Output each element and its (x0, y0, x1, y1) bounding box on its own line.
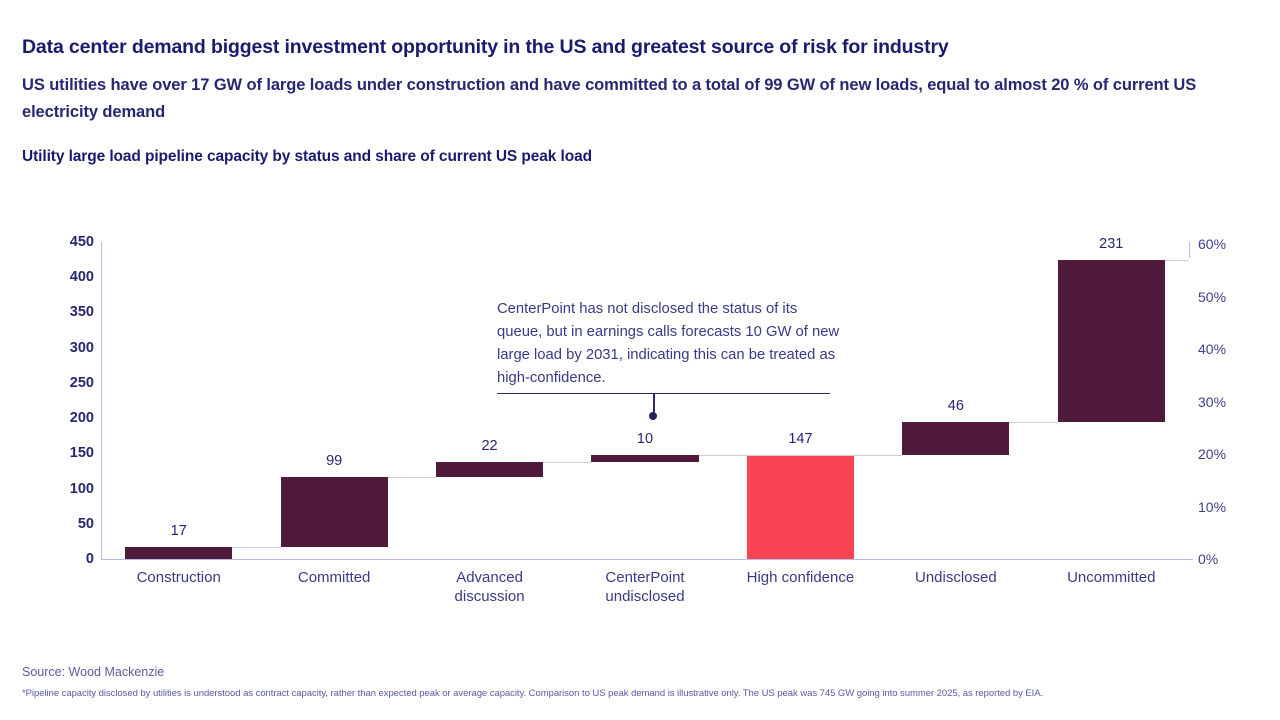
bar-high-confidence[interactable] (747, 455, 854, 559)
footnote-label: *Pipeline capacity disclosed by utilitie… (22, 688, 1043, 699)
bar-committed[interactable] (281, 477, 388, 547)
bar-advanced-discussion[interactable] (436, 462, 543, 477)
x-axis-category-label: Construction (137, 568, 221, 587)
y-axis-tick-label: 50 (20, 516, 94, 532)
y-axis-tick-label: 450 (20, 234, 94, 250)
y-axis-tick-label: 350 (20, 304, 94, 320)
bar-value-label: 46 (948, 398, 964, 414)
bar-centerpoint-undisclosed[interactable] (591, 455, 698, 462)
y2-axis-tick-label: 60% (1198, 236, 1226, 252)
bar-value-label: 99 (326, 453, 342, 469)
bar-value-label: 22 (481, 438, 497, 454)
x-axis-category-label: Committed (298, 568, 371, 587)
chart-container: GW 050100150200250300350400450 0%10%20%3… (0, 225, 1280, 625)
bar-value-label: 10 (637, 431, 653, 447)
waterfall-connector (388, 477, 436, 478)
y2-axis-top-tick (1189, 242, 1190, 258)
header: Data center demand biggest investment op… (22, 34, 1257, 166)
bar-uncommitted[interactable] (1058, 260, 1165, 423)
y2-axis-tick-label: 50% (1198, 289, 1226, 305)
x-axis-category-label: CenterPoint undisclosed (605, 568, 684, 606)
page-subtitle: US utilities have over 17 GW of large lo… (22, 72, 1250, 126)
y-axis-tick-label: 200 (20, 410, 94, 426)
annotation-target-dot (649, 412, 657, 420)
annotation-rule (497, 393, 830, 394)
y2-axis-tick-label: 0% (1198, 551, 1218, 567)
y2-axis-tick-label: 30% (1198, 394, 1226, 410)
y-axis-tick-label: 100 (20, 481, 94, 497)
x-axis-category-label: High confidence (747, 568, 855, 587)
y-axis-tick-label: 250 (20, 375, 94, 391)
x-axis-category-label: Uncommitted (1067, 568, 1155, 587)
y-axis-tick-label: 150 (20, 445, 94, 461)
y-axis-tick-label: 400 (20, 269, 94, 285)
waterfall-connector (699, 455, 903, 456)
bar-value-label: 17 (171, 523, 187, 539)
y-axis-tick-label: 300 (20, 340, 94, 356)
bar-value-label: 231 (1099, 236, 1123, 252)
plot-area: 1799221014746231 (101, 242, 1189, 559)
waterfall-connector (1165, 260, 1189, 261)
waterfall-connector (232, 547, 280, 548)
chart-caption: Utility large load pipeline capacity by … (22, 148, 1257, 166)
waterfall-connector (1009, 422, 1057, 423)
x-axis-category-label: Advanced discussion (455, 568, 525, 606)
page-title: Data center demand biggest investment op… (22, 34, 1257, 60)
chart-page: Data center demand biggest investment op… (0, 0, 1280, 720)
y2-axis-zero-tick (1181, 559, 1193, 560)
y2-axis-tick-label: 20% (1198, 446, 1226, 462)
bar-construction[interactable] (125, 547, 232, 559)
y2-axis-tick-label: 10% (1198, 499, 1226, 515)
y-axis-tick-label: 0 (20, 551, 94, 567)
y2-axis-tick-label: 40% (1198, 341, 1226, 357)
waterfall-connector (543, 462, 591, 463)
bar-undisclosed[interactable] (902, 422, 1009, 454)
x-axis-category-label: Undisclosed (915, 568, 997, 587)
bar-value-label: 147 (788, 431, 812, 447)
x-axis-line (101, 559, 1189, 560)
annotation-text: CenterPoint has not disclosed the status… (497, 298, 842, 390)
annotation-callout: CenterPoint has not disclosed the status… (497, 298, 842, 390)
source-label: Source: Wood Mackenzie (22, 665, 164, 679)
